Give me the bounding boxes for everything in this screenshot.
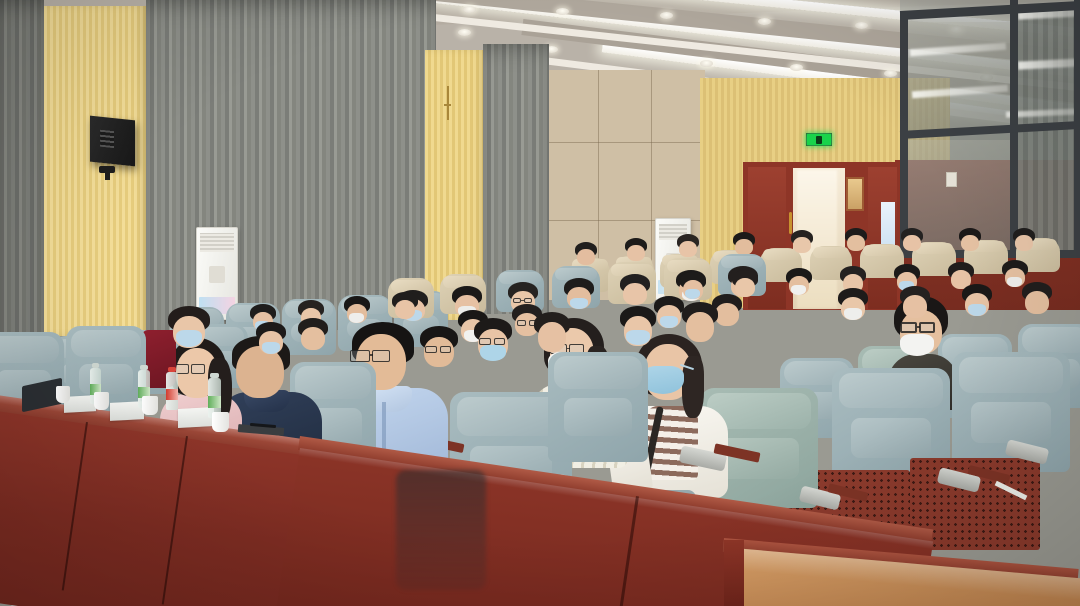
paper-cup[interactable] bbox=[142, 396, 158, 415]
side-table bbox=[724, 534, 1080, 606]
paper-cup[interactable] bbox=[212, 412, 229, 432]
curtain-hook-icon bbox=[444, 104, 451, 106]
seat-divider-shadow bbox=[396, 470, 486, 590]
audience-foreground-heads bbox=[420, 300, 740, 380]
downlight-icon bbox=[660, 12, 673, 19]
wall-switch-plate[interactable] bbox=[946, 172, 957, 187]
downlight-icon bbox=[458, 29, 471, 36]
paper-cup[interactable] bbox=[56, 386, 70, 403]
downlight-icon bbox=[700, 60, 713, 67]
curtain-hook-icon bbox=[447, 86, 449, 120]
downlight-icon bbox=[556, 8, 569, 15]
water-bottle-red-label[interactable] bbox=[166, 372, 178, 410]
downlight-icon bbox=[463, 6, 476, 13]
paper-cup[interactable] bbox=[94, 392, 109, 410]
downlight-icon bbox=[855, 22, 868, 29]
door-window bbox=[846, 177, 864, 211]
exit-sign bbox=[806, 133, 832, 146]
downlight-icon bbox=[790, 64, 803, 71]
loudspeaker-icon bbox=[90, 116, 135, 167]
glass-partition bbox=[900, 0, 1080, 258]
stage-curtain-left bbox=[0, 0, 44, 336]
yellow-wall-column-left bbox=[44, 6, 146, 336]
auditorium-photo bbox=[0, 0, 1080, 606]
downlight-icon bbox=[884, 70, 897, 77]
downlight-icon bbox=[758, 18, 771, 25]
audience-member-masked bbox=[168, 306, 210, 350]
speaker-bracket bbox=[105, 171, 110, 180]
